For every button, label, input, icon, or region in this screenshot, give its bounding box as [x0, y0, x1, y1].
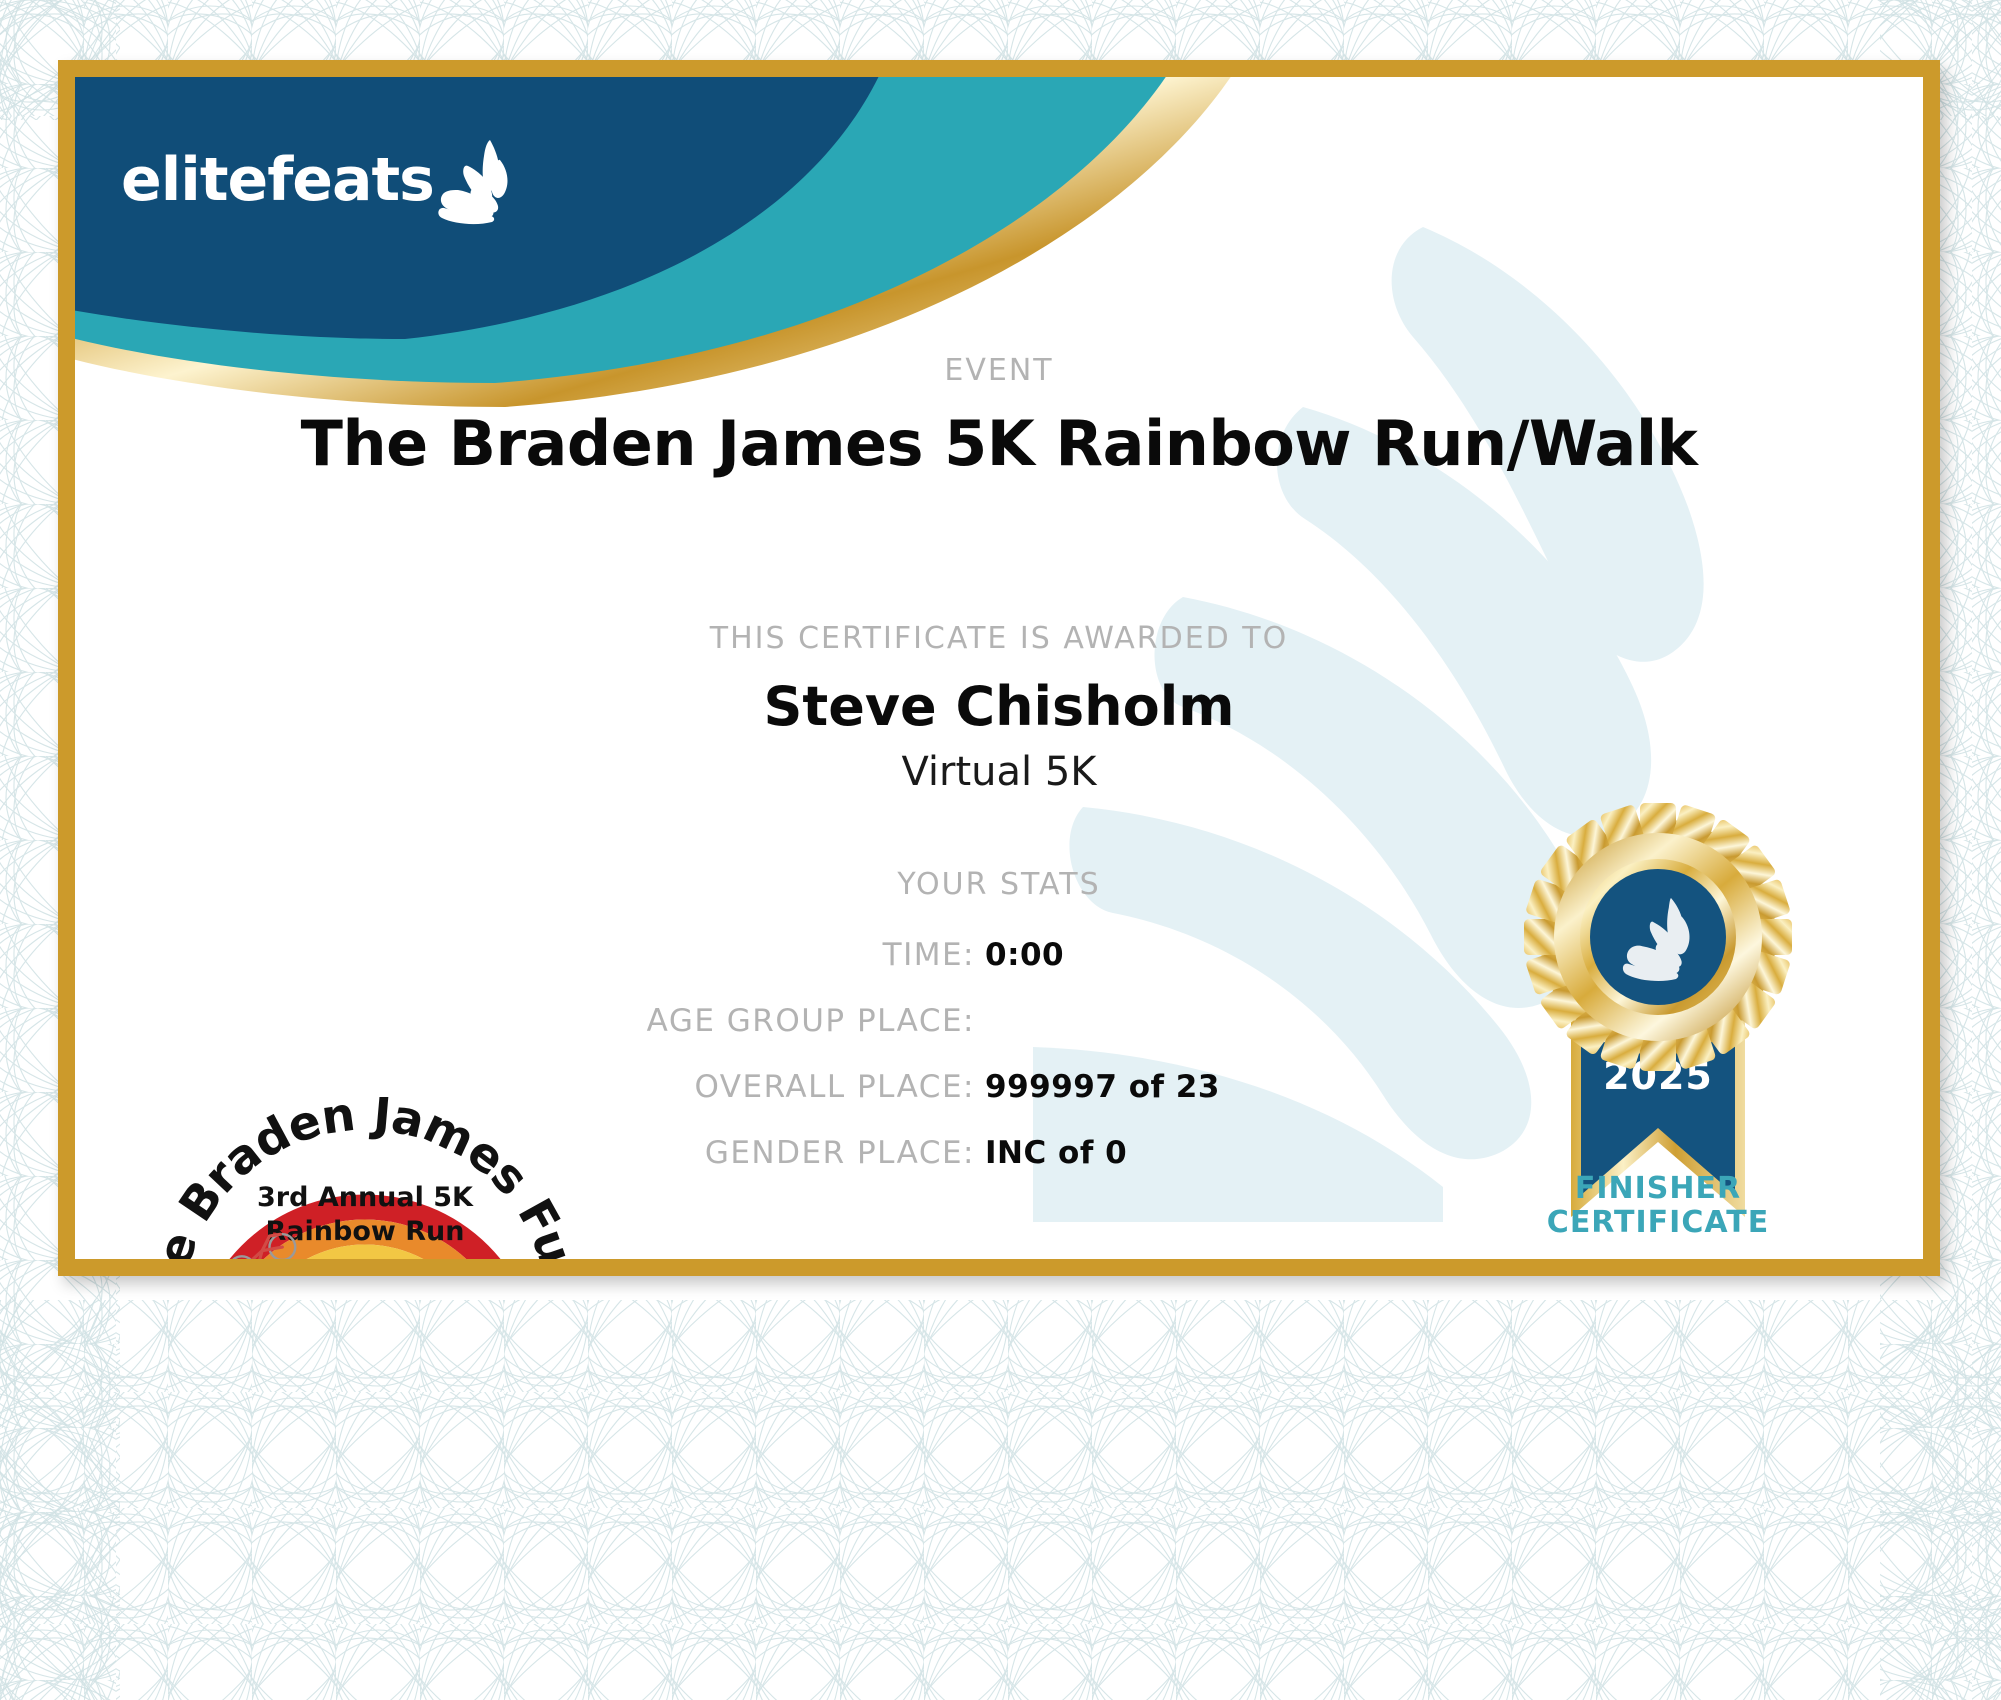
recipient-subtitle: Virtual 5K	[75, 749, 1923, 795]
stat-row-age-group-place: AGE GROUP PLACE:	[430, 1003, 1350, 1047]
certificate-frame: elitefeats EVENT The Braden James 5K Rai…	[58, 60, 1940, 1276]
braden-james-fund-logo: The Braden James Fund 3rd Annual 5K Rain…	[155, 1097, 575, 1276]
stat-value-overall-place: 999997 of 23	[985, 1069, 1345, 1105]
finisher-caption-line-2: CERTIFICATE	[1493, 1206, 1823, 1240]
event-label: EVENT	[75, 353, 1923, 388]
medal-disc	[1524, 803, 1792, 1071]
recipient-name: Steve Chisholm	[75, 675, 1923, 738]
awarded-to-label: THIS CERTIFICATE IS AWARDED TO	[75, 621, 1923, 656]
stat-value-time: 0:00	[985, 937, 1345, 973]
stat-value-gender-place: INC of 0	[985, 1135, 1345, 1171]
stat-label-time: TIME:	[435, 937, 985, 973]
elitefeats-logo: elitefeats	[121, 132, 514, 228]
stat-label-age-group-place: AGE GROUP PLACE:	[435, 1003, 985, 1039]
event-title: The Braden James 5K Rainbow Run/Walk	[75, 407, 1923, 480]
event-logo-line-1: 3rd Annual 5K	[257, 1182, 474, 1213]
finisher-caption: FINISHER CERTIFICATE	[1493, 1172, 1823, 1239]
elitefeats-wordmark: elitefeats	[121, 150, 434, 210]
stat-row-time: TIME: 0:00	[430, 937, 1350, 981]
winged-foot-icon	[428, 136, 514, 228]
finisher-caption-line-1: FINISHER	[1493, 1172, 1823, 1206]
